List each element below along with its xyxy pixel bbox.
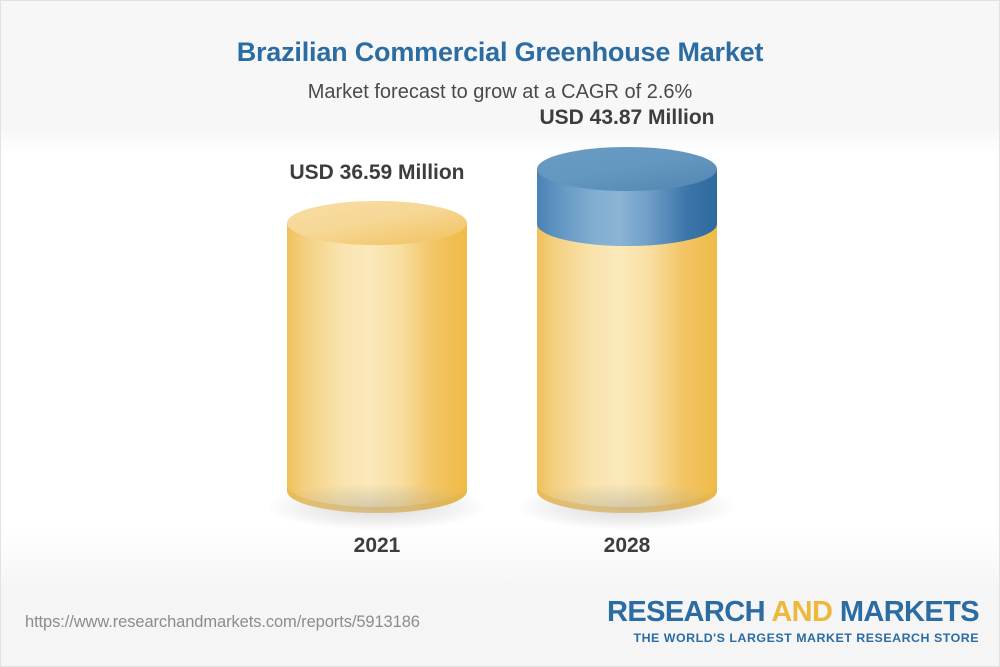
chart-subtitle: Market forecast to grow at a CAGR of 2.6…	[1, 80, 999, 104]
chart-footer: https://www.researchandmarkets.com/repor…	[1, 589, 1000, 666]
logo-word-research: RESEARCH	[607, 596, 771, 628]
source-url[interactable]: https://www.researchandmarkets.com/repor…	[25, 613, 420, 632]
chart-plot-area: USD 36.59 Million 2021	[1, 129, 1000, 591]
logo-wordmark: RESEARCH AND MARKETS	[607, 598, 979, 627]
bar-2028	[537, 146, 717, 513]
bar-2021-value-label: USD 36.59 Million	[197, 161, 557, 185]
bar-2021-cylinder	[287, 201, 467, 513]
infographic-card: Brazilian Commercial Greenhouse Market M…	[0, 0, 1000, 667]
chart-header: Brazilian Commercial Greenhouse Market M…	[1, 1, 999, 104]
bar-2021	[287, 201, 467, 513]
bar-2028-value-label: USD 43.87 Million	[447, 106, 807, 130]
logo-tagline: THE WORLD'S LARGEST MARKET RESEARCH STOR…	[607, 632, 979, 644]
logo-word-markets: MARKETS	[840, 596, 979, 628]
bar-shadow-2028	[519, 484, 734, 530]
bar-2028-cylinder	[537, 146, 717, 513]
logo-word-and: AND	[771, 596, 840, 628]
chart-title: Brazilian Commercial Greenhouse Market	[1, 37, 999, 68]
bar-shadow-2021	[269, 484, 484, 530]
research-and-markets-logo[interactable]: RESEARCH AND MARKETS THE WORLD'S LARGEST…	[607, 598, 979, 644]
bar-2028-category-label: 2028	[447, 534, 807, 558]
